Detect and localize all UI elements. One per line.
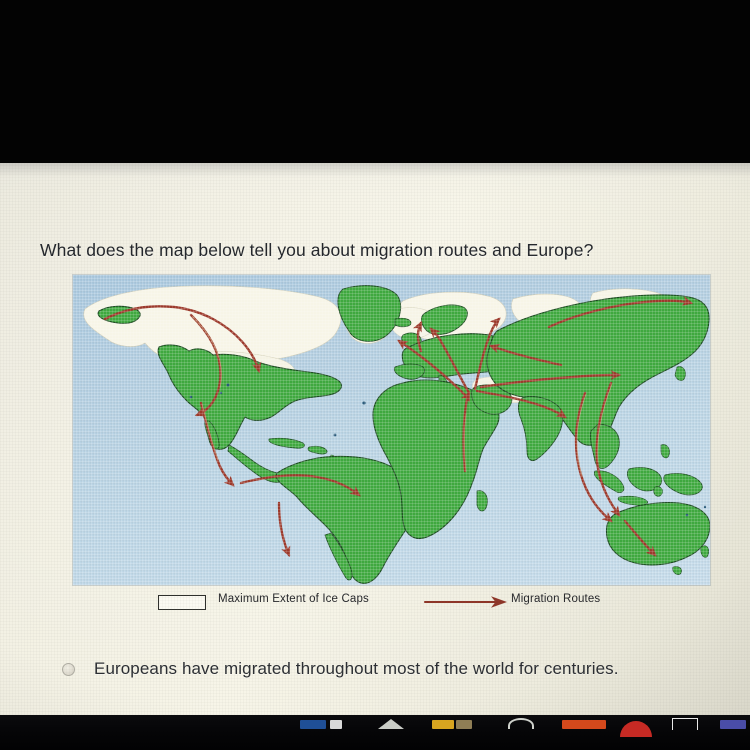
- taskbar-icon-tan-bar[interactable]: [456, 720, 472, 729]
- land-java: [618, 496, 648, 505]
- taskbar-icon-strip[interactable]: [0, 715, 750, 750]
- top-letterbox-bar: [0, 0, 750, 163]
- land-dot-7: [704, 506, 706, 508]
- map-legend: Maximum Extent of Ice Caps Migration Rou…: [73, 588, 710, 618]
- radio-button-unselected-icon[interactable]: [62, 663, 75, 676]
- taskbar-icon-gray-triangle[interactable]: [378, 719, 404, 729]
- world-map-graphic: [73, 275, 710, 585]
- land-philippines: [661, 445, 670, 458]
- land-sulawesi: [654, 487, 663, 497]
- taskbar-icon-purple-bar[interactable]: [720, 720, 746, 729]
- land-greenland: [338, 286, 401, 342]
- answer-option-label[interactable]: Europeans have migrated throughout most …: [94, 657, 619, 681]
- land-iberia: [394, 364, 424, 379]
- taskbar-icon-arch[interactable]: [508, 718, 534, 729]
- worksheet-page: What does the map below tell you about m…: [0, 163, 750, 715]
- land-madagascar: [477, 491, 487, 511]
- taskbar-icon-red-dome[interactable]: [620, 721, 652, 737]
- os-taskbar[interactable]: [0, 715, 750, 750]
- answer-option-row[interactable]: Europeans have migrated throughout most …: [62, 657, 722, 685]
- taskbar-icon-white-outline-square[interactable]: [672, 718, 698, 730]
- legend-label-ice-caps: Maximum Extent of Ice Caps: [218, 593, 369, 605]
- land-dot-5: [190, 396, 193, 399]
- land-north-america: [158, 345, 341, 450]
- question-prompt: What does the map below tell you about m…: [40, 240, 700, 261]
- white-rectangle-swatch-icon: [158, 595, 206, 610]
- land-australia: [606, 502, 710, 565]
- taskbar-icon-blue-bar[interactable]: [300, 720, 326, 729]
- land-indochina: [590, 425, 619, 469]
- land-new-zealand: [701, 546, 709, 558]
- land-japan: [675, 367, 686, 381]
- land-cuba: [269, 438, 305, 448]
- taskbar-icon-yellow-bar[interactable]: [432, 720, 454, 729]
- land-iceland: [395, 318, 411, 327]
- land-dot-4: [220, 392, 222, 394]
- land-dot-3: [227, 384, 230, 387]
- land-dot-6: [686, 514, 689, 517]
- land-new-guinea: [664, 473, 702, 495]
- legend-label-migration-routes: Migration Routes: [511, 593, 600, 605]
- arrow-andes-south: [279, 503, 289, 555]
- land-tasmania: [673, 566, 682, 574]
- land-hispaniola: [308, 446, 327, 454]
- land-dot-1: [362, 401, 365, 404]
- screenshot-frame: What does the map below tell you about m…: [0, 0, 750, 750]
- migration-map-figure: [73, 275, 710, 585]
- taskbar-icon-white-tab[interactable]: [330, 720, 342, 729]
- land-dot-2: [334, 434, 337, 437]
- taskbar-icon-orange-rect[interactable]: [562, 720, 606, 729]
- right-arrow-icon: [423, 593, 509, 611]
